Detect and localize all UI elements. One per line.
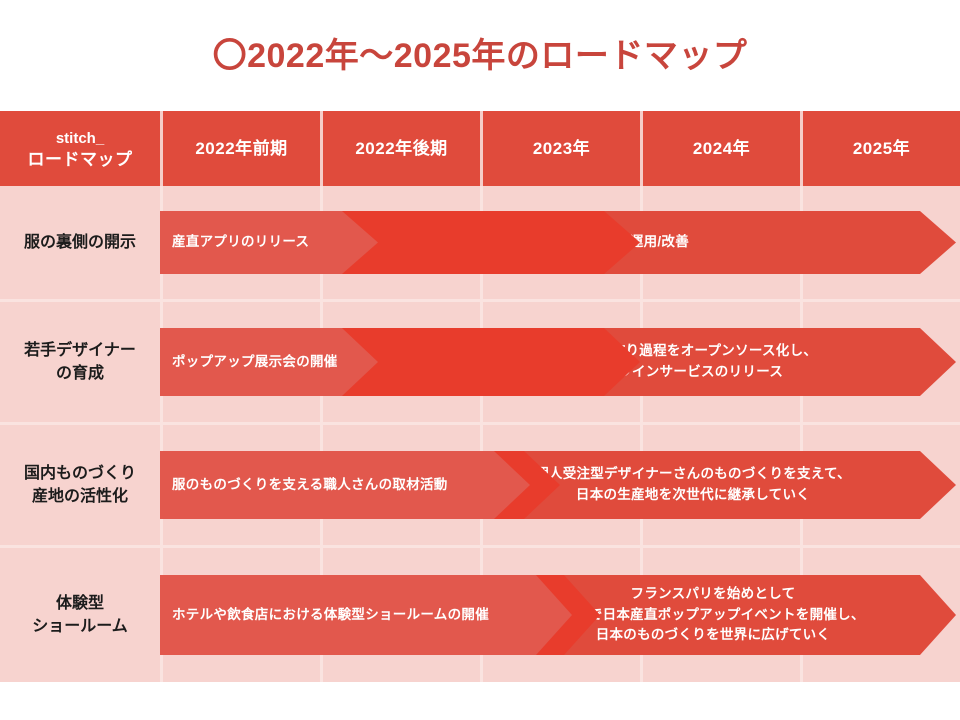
- header-column-2024-label: 2024年: [693, 138, 750, 159]
- row-label-1: 服の裏側の開示: [0, 186, 160, 299]
- row-3-arrow-phase1[interactable]: 服のものづくりを支える職人さんの取材活動: [160, 451, 530, 519]
- header-column-2022h2[interactable]: 2022年後期: [323, 111, 480, 186]
- header-divider-1: [160, 111, 163, 186]
- row-2-arrow-phase1[interactable]: ポップアップ展示会の開催: [160, 328, 378, 396]
- row-3-arrow-phase1-text: 服のものづくりを支える職人さんの取材活動: [172, 475, 490, 496]
- header-column-2023-label: 2023年: [533, 138, 590, 159]
- header-column-2023[interactable]: 2023年: [483, 111, 640, 186]
- header-column-2024[interactable]: 2024年: [643, 111, 800, 186]
- row-4-arrow-phase1-text: ホテルや飲食店における体験型ショールームの開催: [172, 605, 532, 626]
- header-column-2022h1[interactable]: 2022年前期: [163, 111, 320, 186]
- header-column-2025[interactable]: 2025年: [803, 111, 960, 186]
- header-column-2025-label: 2025年: [853, 138, 910, 159]
- row-4-arrow-phase1[interactable]: ホテルや飲食店における体験型ショールームの開催: [160, 575, 572, 655]
- header-divider-3: [480, 111, 483, 186]
- row-label-2: 若手デザイナー の育成: [0, 302, 160, 422]
- row-2-arrow-phase1-text: ポップアップ展示会の開催: [172, 352, 338, 373]
- header-column-2022h2-label: 2022年後期: [355, 138, 447, 159]
- header-divider-5: [800, 111, 803, 186]
- header-corner-line1: stitch_: [56, 130, 104, 147]
- page-title: 〇2022年〜2025年のロードマップ: [213, 28, 748, 77]
- row-label-4: 体験型 ショールーム: [0, 548, 160, 682]
- table-header-row: stitch_ロードマップ 2022年前期 2022年後期 2023年 2024…: [0, 111, 960, 186]
- row-label-3: 国内ものづくり 産地の活性化: [0, 425, 160, 545]
- row-1-arrow-phase1[interactable]: 産直アプリのリリース: [160, 211, 378, 274]
- header-corner-label: stitch_ロードマップ: [28, 127, 133, 170]
- header-divider-2: [320, 111, 323, 186]
- header-divider-4: [640, 111, 643, 186]
- row-1-arrow-phase1-text: 産直アプリのリリース: [172, 232, 338, 253]
- page-title-container: 〇2022年〜2025年のロードマップ: [0, 28, 960, 77]
- roadmap-slide: 〇2022年〜2025年のロードマップ stitch_ロードマップ 2022年前…: [0, 0, 960, 720]
- header-column-2022h1-label: 2022年前期: [195, 138, 287, 159]
- header-corner-line2: ロードマップ: [28, 150, 133, 169]
- header-corner-cell: stitch_ロードマップ: [0, 111, 160, 186]
- roadmap-table: stitch_ロードマップ 2022年前期 2022年後期 2023年 2024…: [0, 111, 960, 682]
